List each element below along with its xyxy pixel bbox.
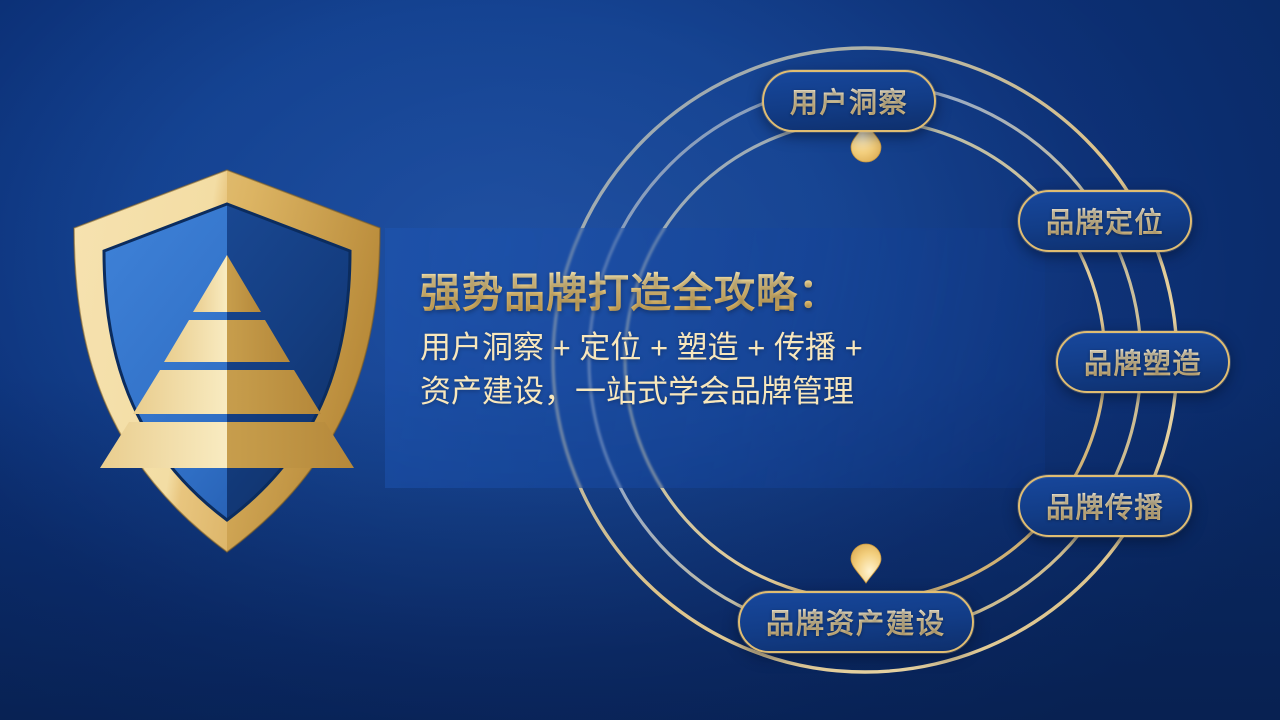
page-title: 强势品牌打造全攻略： [420,268,1030,318]
cycle-node-user-insight[interactable]: 用户洞察 [762,70,936,132]
marker-bottom-icon [851,544,881,583]
cycle-node-brand-position[interactable]: 品牌定位 [1018,190,1192,252]
shield-pyramid-emblem [62,160,392,560]
headline-block: 强势品牌打造全攻略： 用户洞察 + 定位 + 塑造 + 传播 + 资产建设，一站… [420,268,1030,415]
shield-icon [62,160,392,560]
cycle-node-label: 品牌塑造 [1084,342,1202,382]
poster-canvas: 强势品牌打造全攻略： 用户洞察 + 定位 + 塑造 + 传播 + 资产建设，一站… [0,0,1280,720]
subtitle-line-1: 用户洞察 + 定位 + 塑造 + 传播 + [420,326,1030,370]
cycle-node-label: 用户洞察 [790,81,908,121]
cycle-node-label: 品牌资产建设 [766,602,946,642]
cycle-node-label: 品牌传播 [1046,486,1164,526]
cycle-node-brand-spread[interactable]: 品牌传播 [1018,475,1192,537]
cycle-node-label: 品牌定位 [1046,201,1164,241]
cycle-node-brand-shaping[interactable]: 品牌塑造 [1056,331,1230,393]
subtitle-line-2: 资产建设，一站式学会品牌管理 [420,370,1030,414]
cycle-node-brand-assets[interactable]: 品牌资产建设 [738,591,974,653]
